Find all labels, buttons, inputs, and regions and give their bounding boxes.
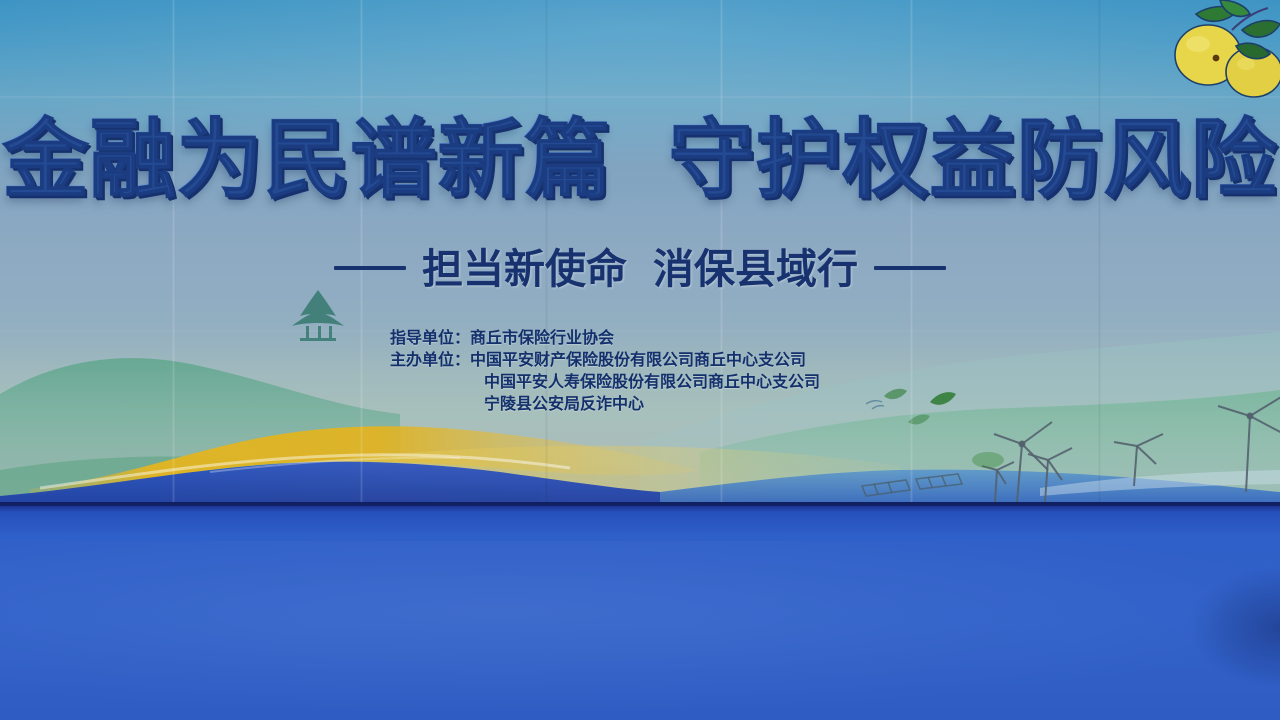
host-value-3: 宁陵县公安局反诈中心 (484, 394, 644, 413)
subtitle-right-rule (874, 266, 946, 270)
guidance-value: 商丘市保险行业协会 (470, 328, 614, 347)
host-row-3: 宁陵县公安局反诈中心 (390, 393, 820, 415)
banner-headline: 金融为民谱新篇 守护权益防风险 (0, 112, 1280, 208)
banner-subtitle: 担当新使命消保县域行 (0, 243, 1280, 295)
stage-sheen (0, 541, 1280, 715)
host-row-1: 主办单位：中国平安财产保险股份有限公司商丘中心支公司 (390, 349, 820, 371)
stage-floor (0, 502, 1280, 720)
pear-fruit-decoration (1150, 0, 1280, 108)
banner-crease (0, 96, 1280, 98)
subtitle-left-rule (334, 266, 406, 270)
organizations-block: 指导单位：商丘市保险行业协会 主办单位：中国平安财产保险股份有限公司商丘中心支公… (390, 327, 820, 415)
subtitle-text-1: 担当新使命 (422, 245, 627, 293)
screenshot-root: 金融为民谱新篇 守护权益防风险 担当新使命消保县域行 指导单位：商丘市保险行业协… (0, 0, 1280, 720)
stage-shadow (1190, 567, 1280, 687)
event-backdrop-banner: 金融为民谱新篇 守护权益防风险 担当新使命消保县域行 指导单位：商丘市保险行业协… (0, 0, 1280, 504)
host-label: 主办单位： (390, 349, 470, 371)
guidance-label: 指导单位： (390, 327, 470, 349)
headline-part-2: 守护权益防风险 (668, 112, 1277, 208)
headline-part-1: 金融为民谱新篇 (3, 112, 612, 208)
host-value-2: 中国平安人寿保险股份有限公司商丘中心支公司 (484, 372, 820, 391)
host-row-2: 中国平安人寿保险股份有限公司商丘中心支公司 (390, 371, 820, 393)
guidance-row: 指导单位：商丘市保险行业协会 (390, 327, 820, 349)
stage-edge (0, 502, 1280, 506)
subtitle-text-2: 消保县域行 (653, 245, 858, 293)
host-value-1: 中国平安财产保险股份有限公司商丘中心支公司 (470, 350, 806, 369)
